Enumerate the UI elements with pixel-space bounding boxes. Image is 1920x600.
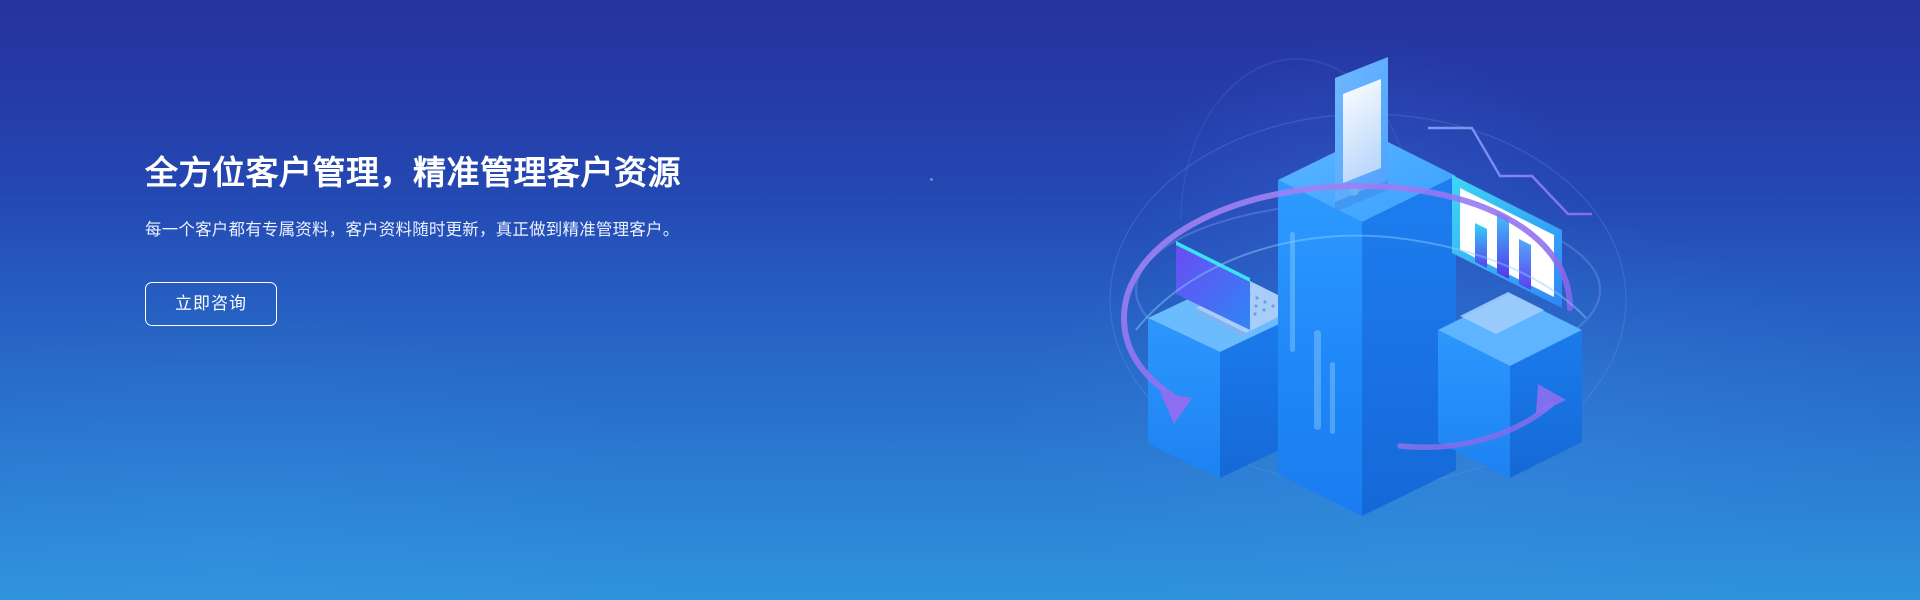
page-title: 全方位客户管理，精准管理客户资源 bbox=[145, 152, 785, 193]
hero-subtitle: 每一个客户都有专属资料，客户资料随时更新，真正做到精准管理客户。 bbox=[145, 193, 730, 244]
hero-copy-block: 全方位客户管理，精准管理客户资源 每一个客户都有专属资料，客户资料随时更新，真正… bbox=[145, 152, 785, 326]
consult-now-button[interactable]: 立即咨询 bbox=[145, 282, 277, 326]
background-speck bbox=[930, 178, 933, 181]
hero-banner: 全方位客户管理，精准管理客户资源 每一个客户都有专属资料，客户资料随时更新，真正… bbox=[0, 0, 1920, 600]
background-glow-left bbox=[0, 300, 680, 600]
hero-illustration bbox=[1100, 0, 1660, 600]
